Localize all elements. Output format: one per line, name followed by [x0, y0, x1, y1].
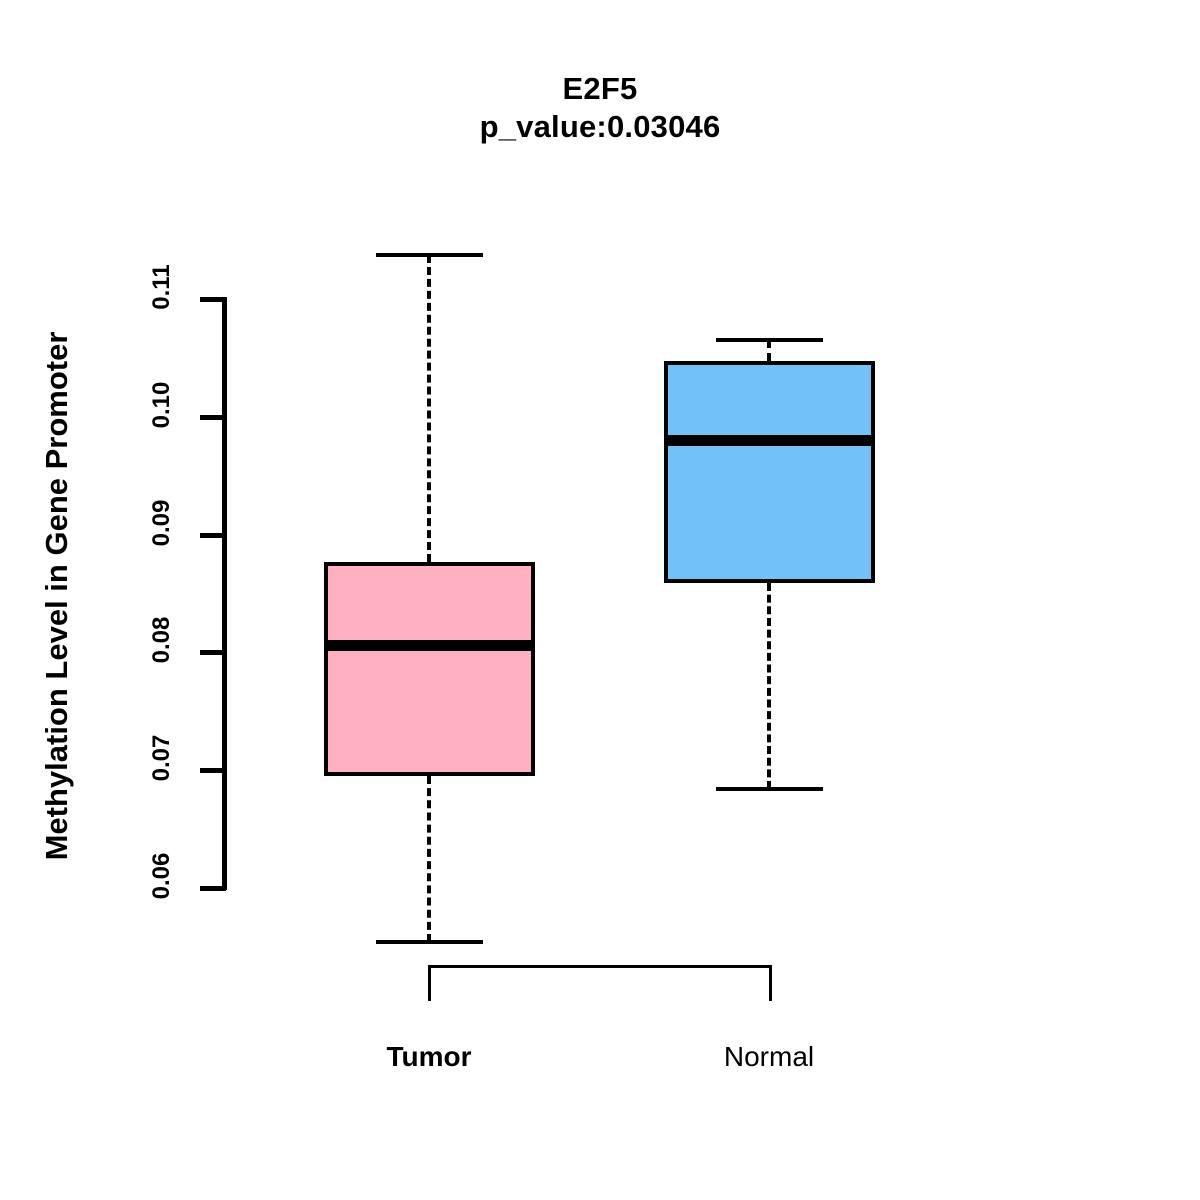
x-axis-bracket-leg-right — [769, 965, 772, 1001]
normal-median-line — [664, 435, 875, 446]
tumor-median-line — [324, 640, 535, 651]
normal-whisker-lower — [767, 583, 771, 789]
x-axis-bracket-top — [428, 965, 772, 968]
y-tick-label-1: 0.07 — [148, 713, 176, 803]
y-tick-label-5: 0.11 — [148, 242, 176, 332]
tumor-whisker-cap-lower — [376, 940, 483, 944]
chart-title-block: E2F5 p_value:0.03046 — [0, 70, 1200, 146]
x-tick-label-tumor: Tumor — [329, 1041, 529, 1073]
x-axis-bracket-leg-left — [428, 965, 431, 1001]
y-axis-tick-0.09 — [200, 533, 226, 538]
normal-whisker-upper — [767, 340, 771, 361]
y-tick-label-4: 0.10 — [148, 360, 176, 450]
normal-whisker-cap-lower — [716, 787, 823, 791]
y-axis-spine — [222, 297, 227, 890]
y-axis-tick-0.07 — [200, 768, 226, 773]
tumor-whisker-lower — [427, 776, 431, 942]
normal-box — [664, 361, 875, 582]
y-tick-label-3: 0.09 — [148, 478, 176, 568]
boxplot-figure: E2F5 p_value:0.03046 Methylation Level i… — [0, 0, 1200, 1200]
y-axis-tick-0.10 — [200, 415, 226, 420]
x-tick-label-normal: Normal — [669, 1041, 869, 1073]
chart-title: E2F5 — [0, 70, 1200, 108]
normal-whisker-cap-upper — [716, 338, 823, 342]
tumor-whisker-upper — [427, 255, 431, 561]
y-axis-tick-0.08 — [200, 650, 226, 655]
tumor-whisker-cap-upper — [376, 253, 483, 257]
y-tick-label-2: 0.08 — [148, 595, 176, 685]
y-axis-tick-0.06 — [200, 886, 226, 891]
tumor-box — [324, 562, 535, 776]
chart-subtitle-pvalue: p_value:0.03046 — [0, 108, 1200, 146]
y-tick-label-0: 0.06 — [148, 831, 176, 921]
y-axis-tick-0.11 — [200, 297, 226, 302]
y-axis-label: Methylation Level in Gene Promoter — [39, 196, 75, 996]
